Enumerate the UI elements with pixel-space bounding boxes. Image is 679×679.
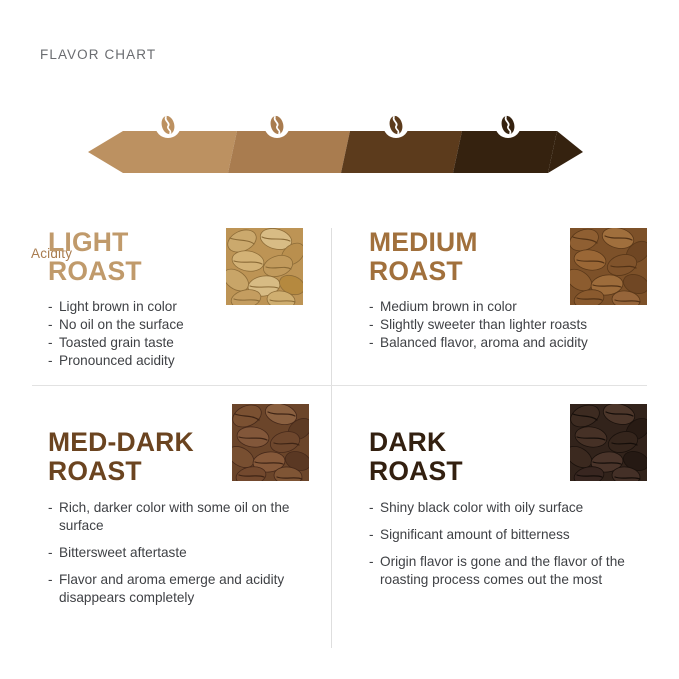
list-item-text: Bittersweet aftertaste — [59, 545, 187, 560]
page-title: FLAVOR CHART — [40, 47, 156, 62]
bullet-dash: - — [369, 553, 374, 571]
dark-roast-beans-photo — [570, 404, 647, 481]
bullet-dash: - — [369, 298, 374, 316]
quadrant-bullet-list: -Shiny black color with oily surface -Si… — [369, 499, 659, 589]
list-item-text: Light brown in color — [59, 299, 177, 314]
list-item: -Rich, darker color with some oil on the… — [48, 499, 318, 535]
medium-roast-beans-photo — [570, 228, 647, 305]
list-item-text: Balanced flavor, aroma and acidity — [380, 335, 588, 350]
list-item-text: Shiny black color with oily surface — [380, 500, 583, 515]
list-item-text: Pronounced acidity — [59, 353, 175, 368]
coffee-bean-icon — [383, 112, 409, 138]
quadrant-bullet-list: -Rich, darker color with some oil on the… — [48, 499, 318, 607]
list-item: -Flavor and aroma emerge and acidity dis… — [48, 571, 318, 607]
coffee-bean-icon — [495, 112, 521, 138]
bullet-dash: - — [48, 316, 53, 334]
list-item: -Slightly sweeter than lighter roasts — [369, 316, 659, 334]
list-item-text: Flavor and aroma emerge and acidity disa… — [59, 572, 284, 605]
bullet-dash: - — [369, 316, 374, 334]
bullet-dash: - — [369, 526, 374, 544]
list-item: -Significant amount of bitterness — [369, 526, 659, 544]
list-item-text: Significant amount of bitterness — [380, 527, 570, 542]
list-item-text: Toasted grain taste — [59, 335, 174, 350]
bullet-dash: - — [369, 334, 374, 352]
quadrant-bullet-list: -Medium brown in color -Slightly sweeter… — [369, 298, 659, 352]
list-item: -Pronounced acidity — [48, 352, 318, 370]
list-item: -Shiny black color with oily surface — [369, 499, 659, 517]
bullet-dash: - — [48, 298, 53, 316]
list-item: -No oil on the surface — [48, 316, 318, 334]
list-item: -Balanced flavor, aroma and acidity — [369, 334, 659, 352]
bullet-dash: - — [369, 499, 374, 517]
list-item-text: Medium brown in color — [380, 299, 517, 314]
bullet-dash: - — [48, 499, 53, 517]
med-dark-roast-beans-photo — [232, 404, 309, 481]
bullet-dash: - — [48, 352, 53, 370]
list-item: -Origin flavor is gone and the flavor of… — [369, 553, 659, 589]
list-item-text: Origin flavor is gone and the flavor of … — [380, 554, 625, 587]
list-item: -Toasted grain taste — [48, 334, 318, 352]
roast-scale-arrow — [0, 104, 679, 184]
vertical-divider — [331, 228, 332, 648]
quadrant-bullet-list: -Light brown in color -No oil on the sur… — [48, 298, 318, 370]
list-item-text: Slightly sweeter than lighter roasts — [380, 317, 587, 332]
coffee-bean-icon — [264, 112, 290, 138]
coffee-bean-icon — [155, 112, 181, 138]
bullet-dash: - — [48, 571, 53, 589]
list-item: -Bittersweet aftertaste — [48, 544, 318, 562]
list-item-text: Rich, darker color with some oil on the … — [59, 500, 289, 533]
roast-scale: Acidity Bitterness LIGHT MEDIUM — [0, 104, 679, 184]
light-roast-beans-photo — [226, 228, 303, 305]
bullet-dash: - — [48, 334, 53, 352]
bullet-dash: - — [48, 544, 53, 562]
list-item-text: No oil on the surface — [59, 317, 184, 332]
horizontal-divider — [32, 385, 647, 386]
